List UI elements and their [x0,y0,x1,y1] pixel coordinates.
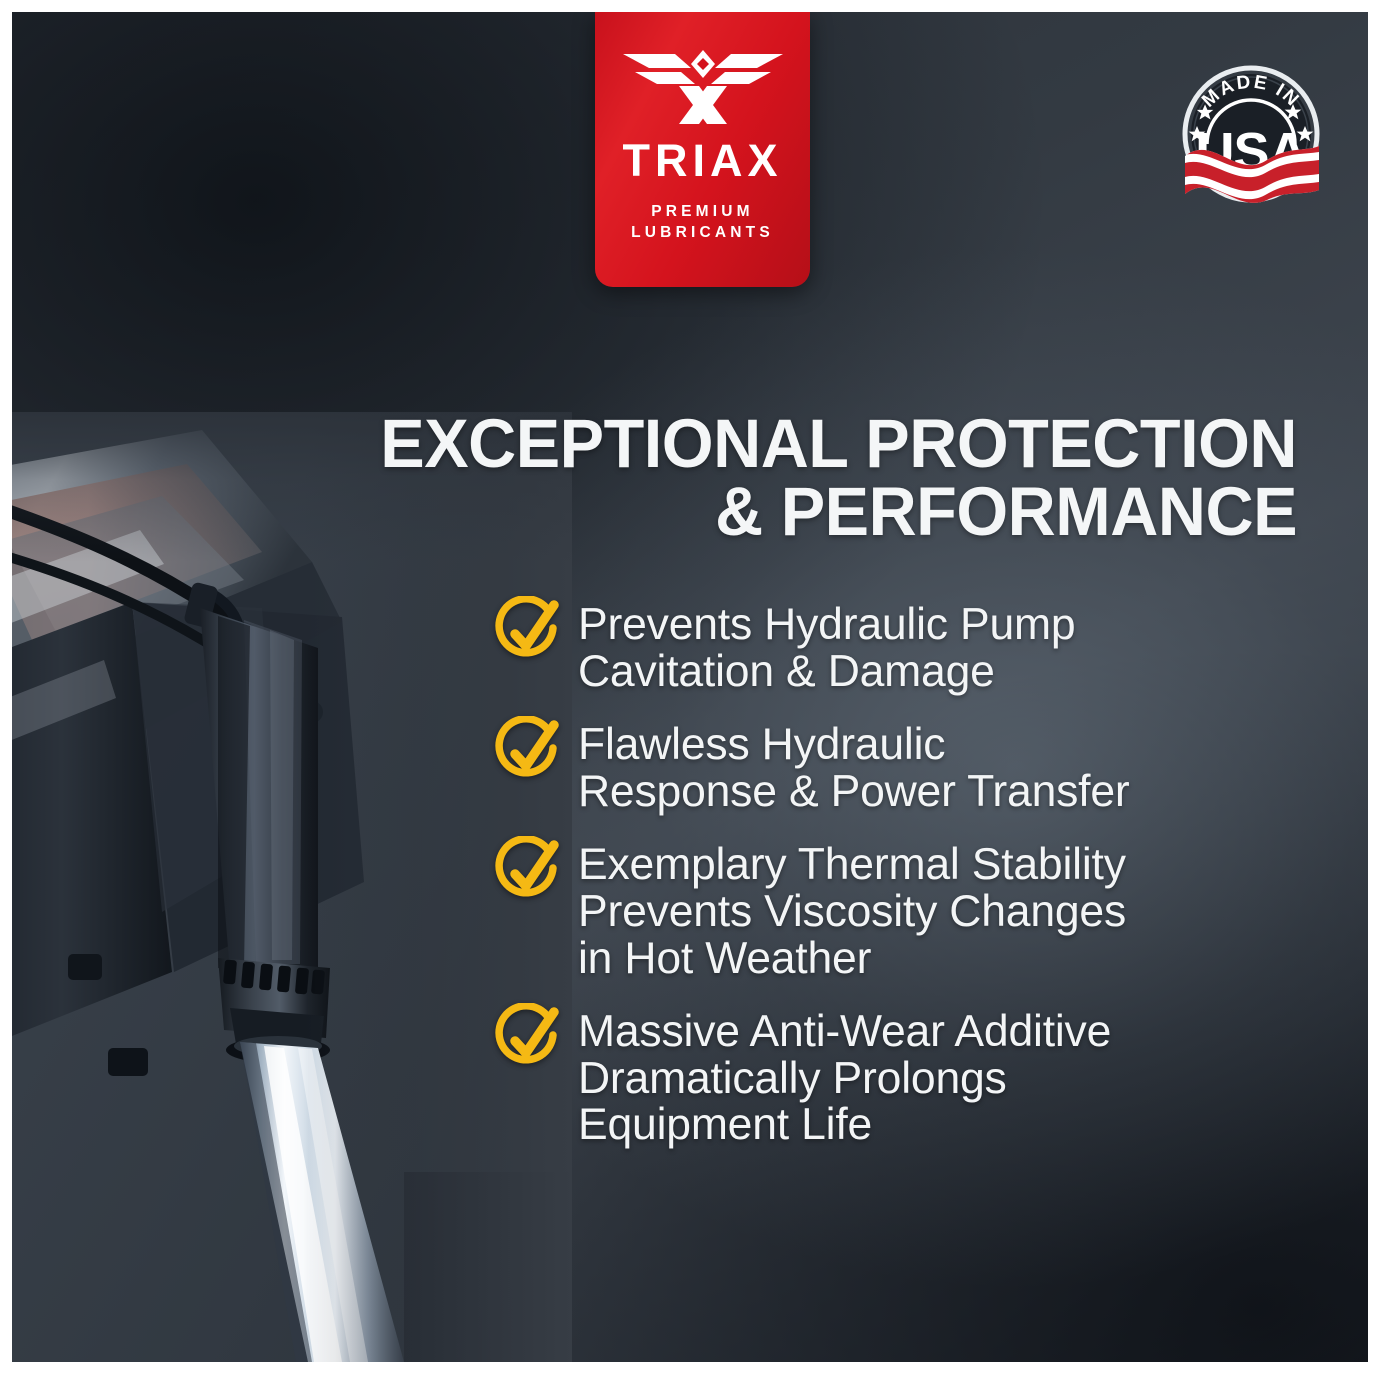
headline-line-1: EXCEPTIONAL PROTECTION [380,405,1297,482]
benefit-1-line-1: Prevents Hydraulic Pump [578,602,1075,649]
list-item: Exemplary Thermal Stability Prevents Vis… [492,840,1322,983]
benefit-2-line-2: Response & Power Transfer [578,769,1130,816]
benefit-3-line-1: Exemplary Thermal Stability [578,842,1126,889]
brand-tagline-line1: PREMIUM [651,203,754,220]
list-item: Massive Anti-Wear Additive Dramatically … [492,1007,1322,1150]
benefit-3-line-2: Prevents Viscosity Changes [578,889,1126,936]
list-item: Prevents Hydraulic Pump Cavitation & Dam… [492,600,1322,696]
benefit-3-line-3: in Hot Weather [578,936,1126,983]
made-in-usa-badge-icon: MADE IN USA [1175,60,1327,208]
check-circle-icon [492,716,566,790]
check-circle-icon [492,836,566,910]
list-item: Flawless Hydraulic Response & Power Tran… [492,720,1322,816]
poster-canvas: TRIAX PREMIUM LUBRICANTS [12,12,1368,1362]
brand-tagline: PREMIUM LUBRICANTS [631,201,774,244]
list-item-label: Prevents Hydraulic Pump Cavitation & Dam… [578,600,1075,696]
benefit-2-line-1: Flawless Hydraulic [578,722,1130,769]
brand-tagline-line2: LUBRICANTS [631,224,774,241]
eagle-emblem-icon [623,46,783,124]
benefit-4-line-3: Equipment Life [578,1102,1111,1149]
check-circle-icon [492,596,566,670]
check-circle-icon [492,1003,566,1077]
benefit-1-line-2: Cavitation & Damage [578,649,1075,696]
page-title: EXCEPTIONAL PROTECTION & PERFORMANCE [346,410,1297,546]
list-item-label: Flawless Hydraulic Response & Power Tran… [578,720,1130,816]
brand-name: TRIAX [623,138,783,183]
benefits-list: Prevents Hydraulic Pump Cavitation & Dam… [492,600,1322,1149]
excavator-boom-hydraulic-cylinder-photo [12,412,572,1362]
poster-root: TRIAX PREMIUM LUBRICANTS [0,0,1380,1380]
triax-logo-banner: TRIAX PREMIUM LUBRICANTS [595,12,810,287]
headline-line-2: & PERFORMANCE [346,478,1297,546]
benefit-4-line-2: Dramatically Prolongs [578,1056,1111,1103]
benefit-4-line-1: Massive Anti-Wear Additive [578,1009,1111,1056]
list-item-label: Exemplary Thermal Stability Prevents Vis… [578,840,1126,983]
list-item-label: Massive Anti-Wear Additive Dramatically … [578,1007,1111,1150]
